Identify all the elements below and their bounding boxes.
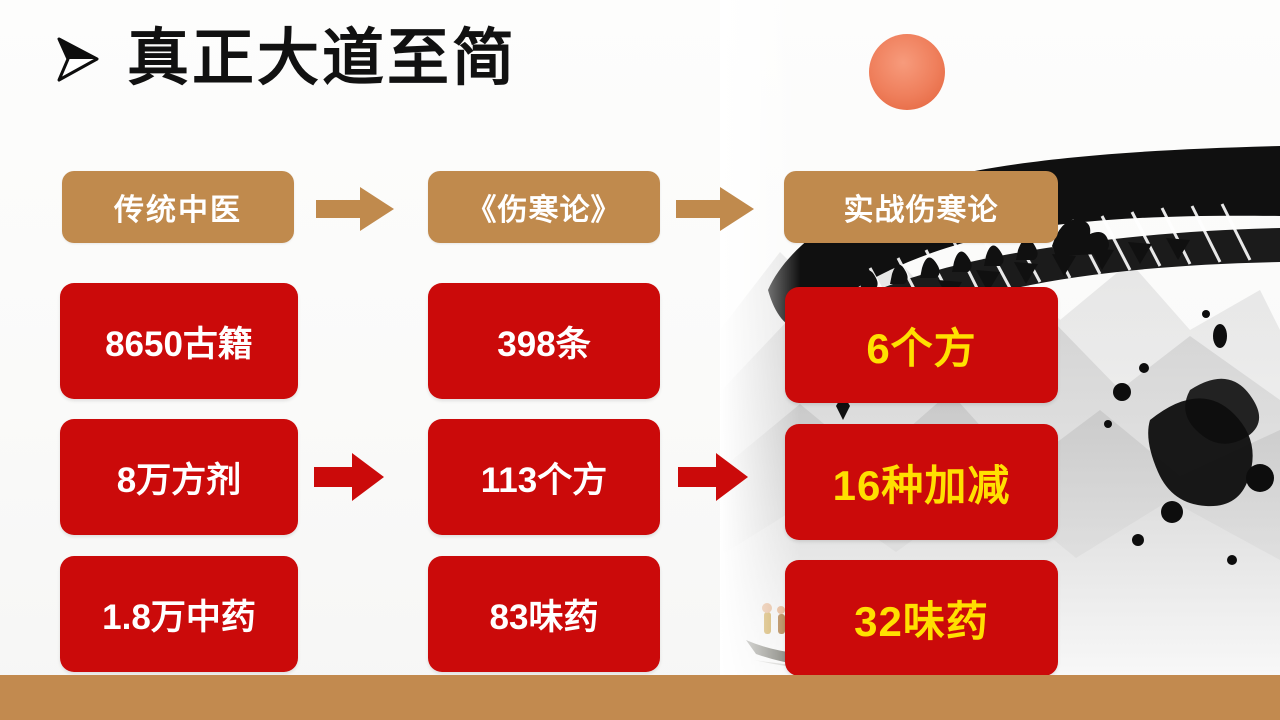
- flow-header-practical-shanghanlun[interactable]: 实战伤寒论: [784, 171, 1058, 243]
- arrow-right-icon: [314, 453, 384, 501]
- cell-ancient-books[interactable]: 8650古籍: [60, 283, 298, 399]
- cell-herbs-18k[interactable]: 1.8万中药: [60, 556, 298, 672]
- cell-herbs-83[interactable]: 83味药: [428, 556, 660, 672]
- cell-modifications-16[interactable]: 16种加减: [785, 424, 1058, 540]
- cell-herbs-32[interactable]: 32味药: [785, 560, 1058, 676]
- flow-header-traditional-tcm[interactable]: 传统中医: [62, 171, 294, 243]
- cell-clauses[interactable]: 398条: [428, 283, 660, 399]
- cell-formulas-113[interactable]: 113个方: [428, 419, 660, 535]
- footer-band: [0, 675, 1280, 720]
- arrow-right-icon: [676, 187, 754, 231]
- arrow-right-icon: [678, 453, 748, 501]
- cell-formulas-six[interactable]: 6个方: [785, 287, 1058, 403]
- slide-canvas: 真正大道至简 传统中医 《伤寒论》 实战伤寒论 8650古籍 398条 6个方 …: [0, 0, 1280, 720]
- cell-prescriptions[interactable]: 8万方剂: [60, 419, 298, 535]
- page-title-row: 真正大道至简: [55, 28, 517, 90]
- page-title: 真正大道至简: [127, 28, 517, 90]
- arrow-bullet-icon: [55, 33, 101, 85]
- flow-header-shanghanlun[interactable]: 《伤寒论》: [428, 171, 660, 243]
- arrow-right-icon: [316, 187, 394, 231]
